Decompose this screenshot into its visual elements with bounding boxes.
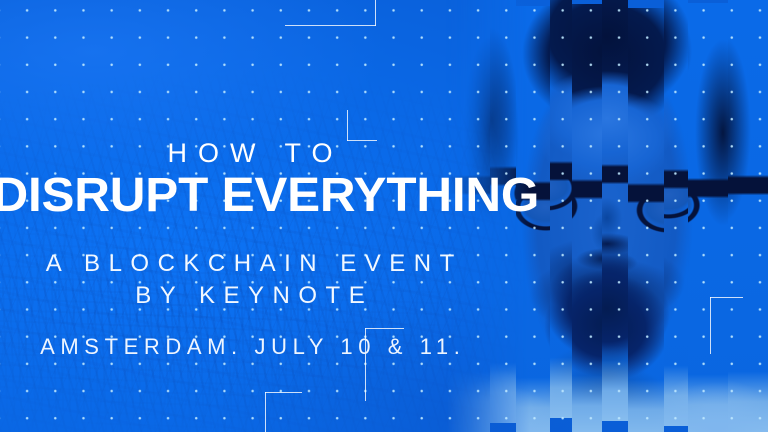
subtitle-line-1: A BLOCKCHAIN EVENT [0,248,500,280]
bracket-top-center [285,0,376,26]
subtitle-text: A BLOCKCHAIN EVENT BY KEYNOTE [0,248,500,311]
headline-text: DISRUPT EVERYTHING [0,172,508,220]
kicker-text: HOW TO [0,140,500,167]
date-location-text: AMSTERDAM. JULY 10 & 11. [0,336,500,358]
bracket-portrait-right [710,297,743,354]
bracket-mid-center [347,110,377,142]
subtitle-line-2: BY KEYNOTE [0,280,500,312]
bracket-lower-left [265,392,302,432]
event-poster: HOW TO DISRUPT EVERYTHING A BLOCKCHAIN E… [0,0,768,432]
